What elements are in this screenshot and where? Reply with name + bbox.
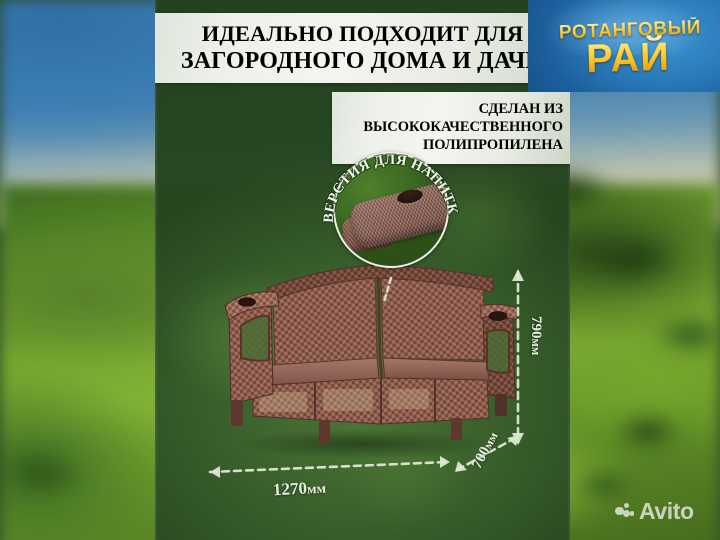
- avito-watermark: Avito: [615, 500, 694, 523]
- width-dimension-label: 1270мм: [273, 478, 327, 501]
- height-unit: мм: [529, 339, 543, 356]
- callout-arc-textpath: ОТВЕРСТИЯ ДЛЯ НАПИТКОВ: [317, 130, 461, 223]
- headline-line-2: ЗАГОРОДНОГО ДОМА И ДАЧИ: [181, 49, 544, 73]
- material-line-1: СДЕЛАН ИЗ: [479, 101, 563, 119]
- height-value: 790: [528, 316, 544, 339]
- width-unit: мм: [307, 482, 327, 498]
- avito-wordmark: Avito: [639, 500, 694, 523]
- cup-holder-callout: ОТВЕРСТИЯ ДЛЯ НАПИТКОВ: [323, 142, 459, 278]
- logo-word-ray: РАЙ: [531, 33, 720, 83]
- callout-arc-label: ОТВЕРСТИЯ ДЛЯ НАПИТКОВ: [317, 130, 461, 223]
- material-line-2: ВЫСОКОКАЧЕСТВЕННОГО: [363, 119, 563, 137]
- headline-banner: ИДЕАЛЬНО ПОДХОДИТ ДЛЯ ЗАГОРОДНОГО ДОМА И…: [155, 13, 570, 83]
- product-panel: ИДЕАЛЬНО ПОДХОДИТ ДЛЯ ЗАГОРОДНОГО ДОМА И…: [155, 0, 570, 540]
- callout-arc-text: ОТВЕРСТИЯ ДЛЯ НАПИТКОВ: [323, 142, 459, 278]
- brand-logo: РОТАНГОВЫЙ РАЙ: [528, 0, 720, 92]
- rattan-sofa-image: [195, 248, 525, 458]
- avito-dots-logo-icon: [615, 503, 634, 520]
- height-dimension-label: 790мм: [527, 316, 544, 355]
- headline-line-1: ИДЕАЛЬНО ПОДХОДИТ ДЛЯ: [202, 23, 524, 46]
- width-value: 1270: [273, 479, 308, 500]
